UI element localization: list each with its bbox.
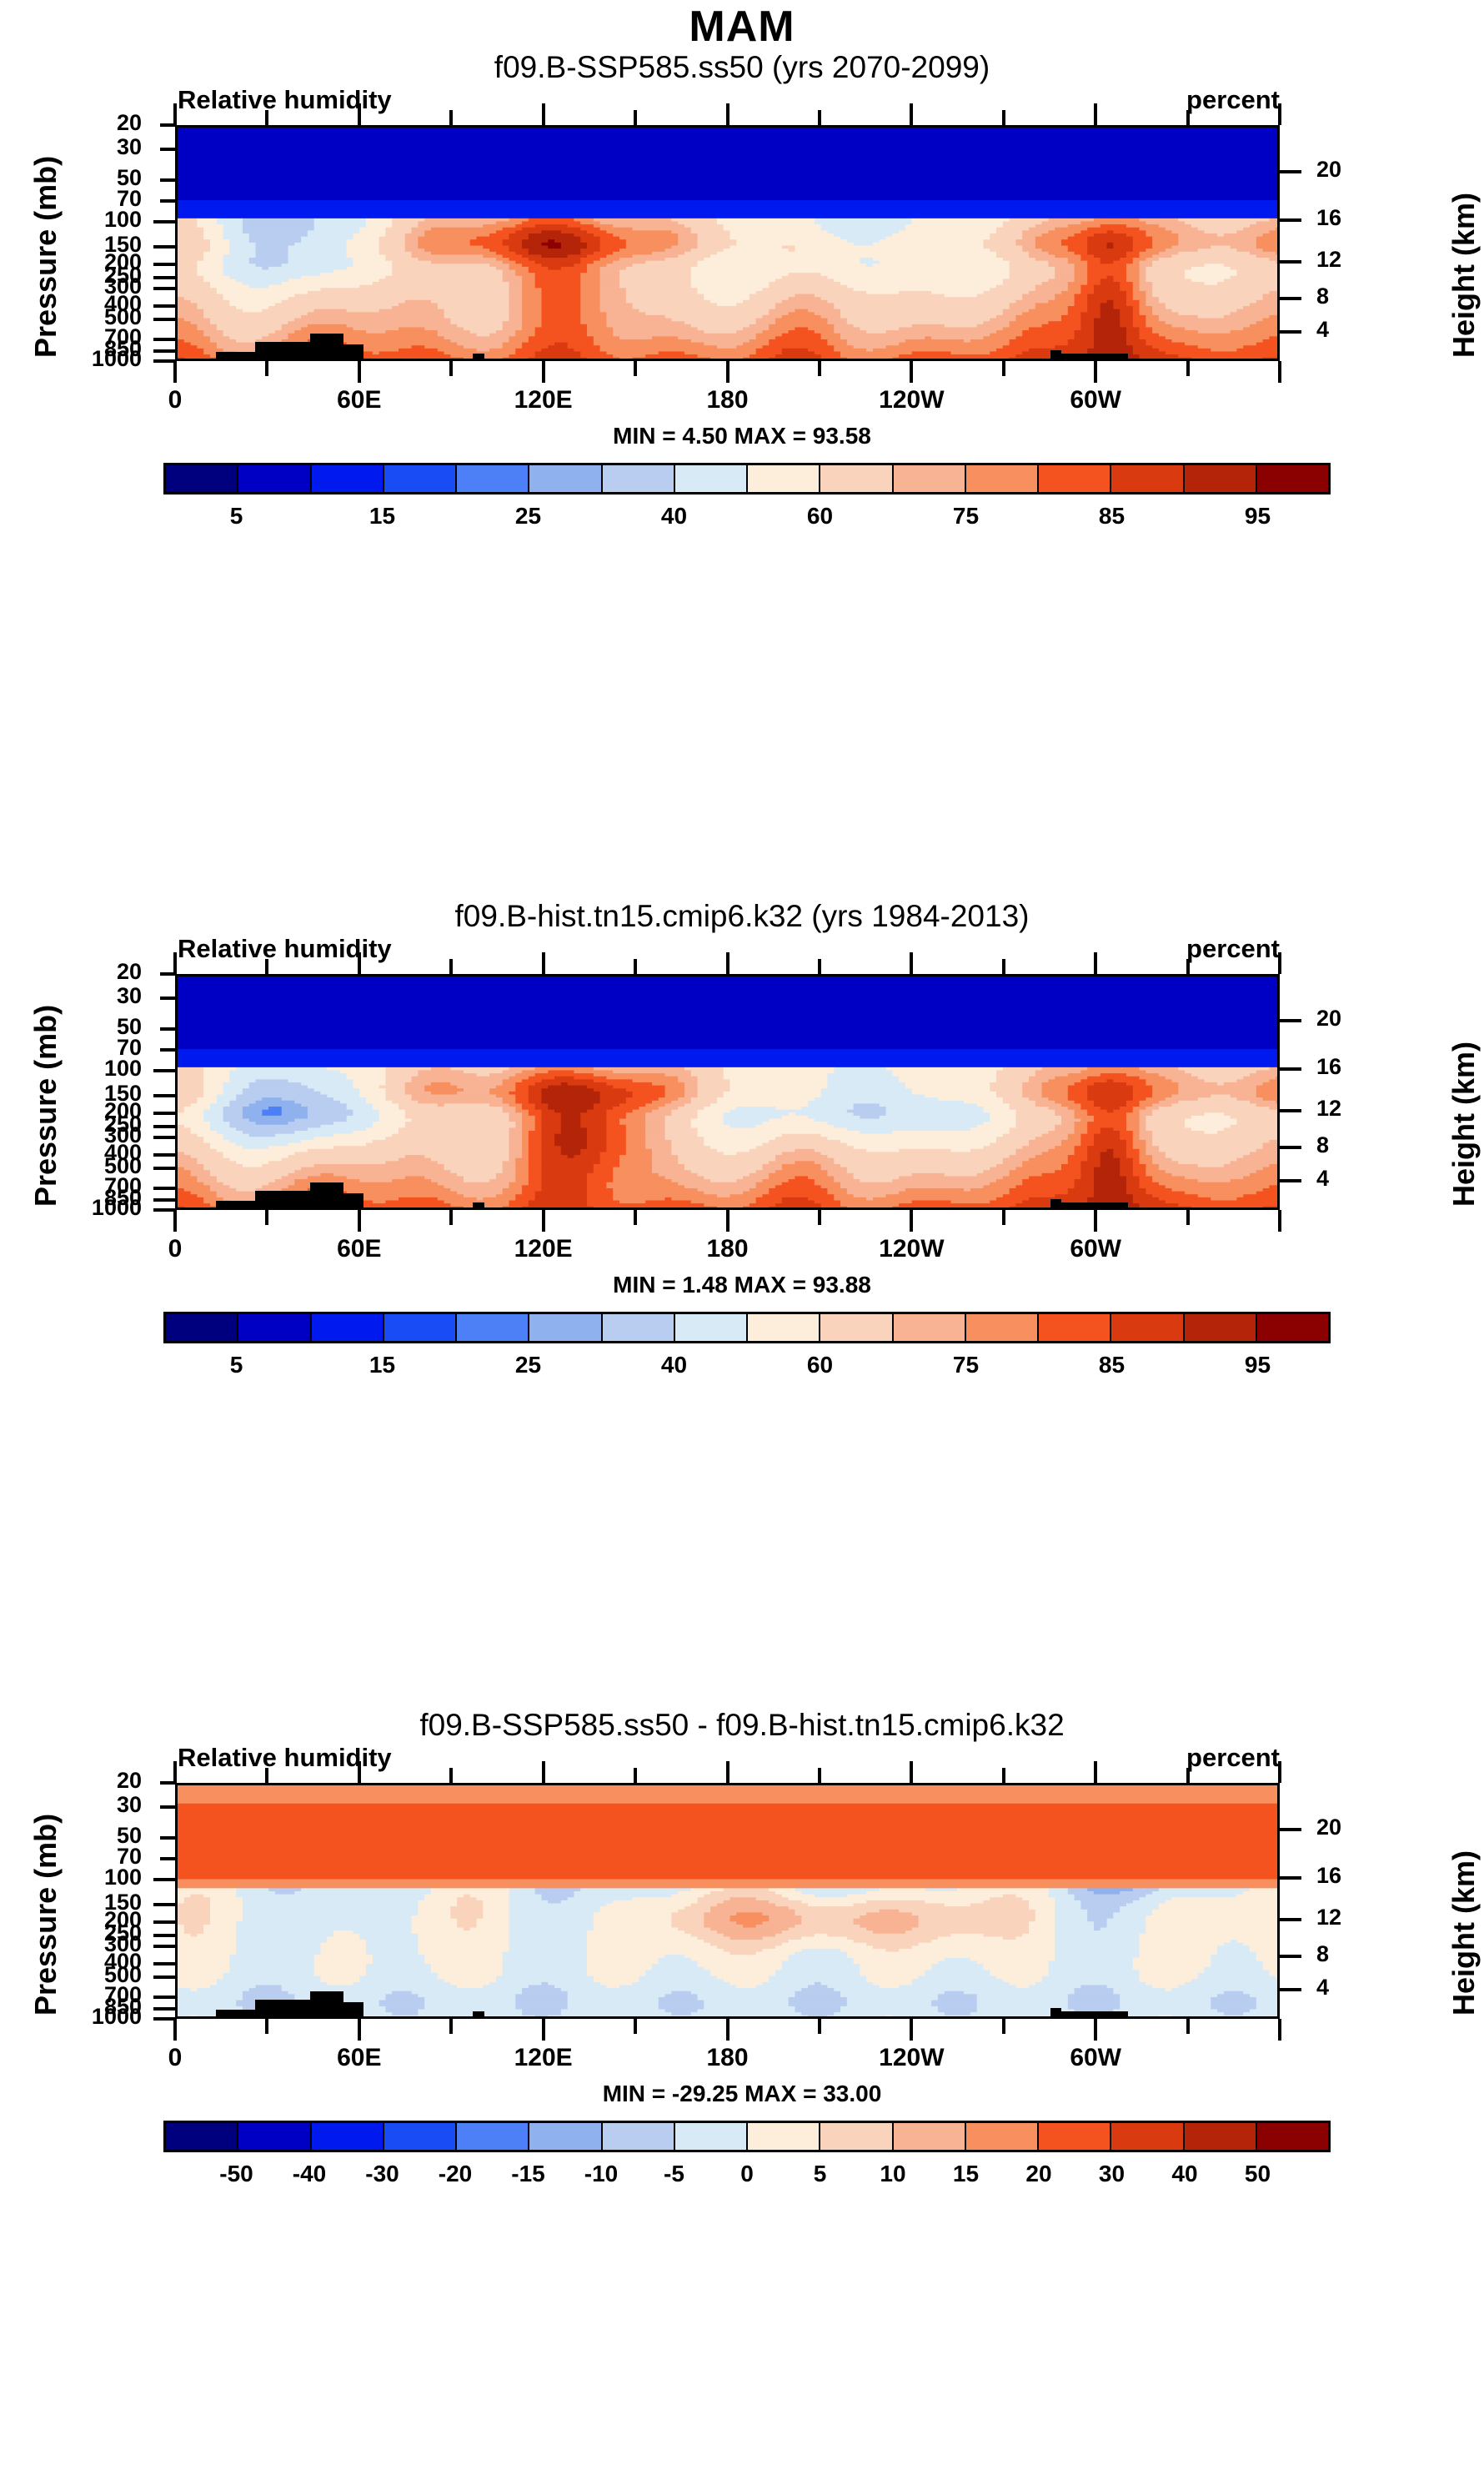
x-tick-mark	[542, 1761, 545, 1783]
colorbar-segment	[238, 2123, 311, 2150]
colorbar-tick-label: 15	[333, 503, 433, 530]
x-tick-mark	[1186, 110, 1190, 125]
colorbar-segment	[384, 465, 457, 492]
colorbar-segment	[312, 2123, 384, 2150]
x-tick-label: 60E	[301, 1235, 418, 1263]
colorbar-segment	[966, 2123, 1039, 2150]
minmax-annotation: MIN = -29.25 MAX = 33.00	[0, 2081, 1484, 2107]
x-tick-mark	[1094, 952, 1097, 974]
colorbar-segment	[312, 465, 384, 492]
x-tick-label: 180	[669, 1235, 786, 1263]
height-tick-label: 20	[1316, 157, 1341, 183]
topography-mask	[1050, 350, 1061, 359]
x-tick-mark	[818, 1768, 821, 1783]
x-tick-mark	[1278, 2019, 1281, 2041]
x-tick-mark	[358, 2019, 361, 2041]
x-tick-mark	[1002, 959, 1005, 974]
y-tick-mark-right	[1280, 1067, 1301, 1071]
topography-mask	[310, 1182, 343, 1207]
colorbar-tick-label: 40	[624, 503, 724, 530]
y-tick-mark-right	[1280, 218, 1301, 222]
y-tick-mark-right	[1280, 170, 1301, 173]
minmax-annotation: MIN = 4.50 MAX = 93.58	[0, 423, 1484, 449]
topography-mask	[283, 342, 310, 359]
x-tick-mark	[910, 952, 913, 974]
colorbar-tick-label: 75	[916, 503, 1016, 530]
y-tick-mark-right	[1280, 1019, 1301, 1022]
x-tick-mark	[265, 1768, 268, 1783]
colorbar-segment	[894, 2123, 966, 2150]
x-tick-mark	[910, 103, 913, 125]
topography-mask	[310, 1991, 343, 2016]
x-tick-mark	[1278, 1210, 1281, 1232]
height-tick-label: 8	[1316, 1941, 1329, 1967]
panel-title: f09.B-SSP585.ss50 - f09.B-hist.tn15.cmip…	[0, 1708, 1484, 1743]
y-tick-mark	[153, 1198, 175, 1202]
x-tick-mark	[634, 2019, 637, 2034]
colorbar-segment	[238, 1314, 311, 1341]
height-tick-label: 8	[1316, 1132, 1329, 1158]
x-tick-mark	[634, 1768, 637, 1783]
y-tick-label: 1000	[42, 346, 142, 372]
x-tick-mark	[726, 361, 729, 383]
x-tick-mark	[265, 361, 268, 376]
x-tick-mark	[634, 959, 637, 974]
colorbar	[163, 1312, 1331, 1343]
colorbar-segment	[820, 465, 893, 492]
colorbar-segment	[1111, 1314, 1184, 1341]
height-tick-label: 20	[1316, 1815, 1341, 1840]
y-tick-mark	[153, 263, 175, 266]
height-tick-label: 4	[1316, 1975, 1329, 2001]
height-tick-label: 8	[1316, 284, 1329, 309]
y-tick-mark	[160, 997, 175, 1000]
x-tick-mark	[1278, 952, 1281, 974]
x-tick-mark	[910, 2019, 913, 2041]
y-tick-label: 100	[42, 207, 142, 233]
x-tick-mark	[818, 2019, 821, 2034]
height-tick-label: 16	[1316, 1863, 1341, 1889]
colorbar-segment	[166, 465, 238, 492]
colorbar-tick-label: 25	[479, 503, 579, 530]
y-tick-mark	[160, 1027, 175, 1031]
x-tick-mark	[1186, 361, 1190, 376]
x-tick-mark	[910, 1761, 913, 1783]
y-tick-mark	[153, 1208, 175, 1212]
colorbar-tick-label: 5	[187, 1352, 287, 1378]
y-tick-mark	[160, 1857, 175, 1860]
colorbar-segment	[748, 2123, 820, 2150]
x-tick-mark	[818, 1210, 821, 1225]
x-tick-mark	[1186, 1210, 1190, 1225]
y-tick-mark	[153, 1962, 175, 1965]
x-tick-label: 0	[117, 2044, 233, 2072]
x-tick-label: 120W	[853, 1235, 970, 1263]
y-tick-mark-right	[1280, 1955, 1301, 1958]
colorbar-segment	[603, 465, 675, 492]
x-tick-mark	[1002, 1768, 1005, 1783]
units-label: percent	[1155, 85, 1280, 115]
topography-mask	[473, 354, 485, 359]
colorbar-segment	[603, 1314, 675, 1341]
panel-title: f09.B-hist.tn15.cmip6.k32 (yrs 1984-2013…	[0, 899, 1484, 934]
colorbar-segment	[312, 1314, 384, 1341]
colorbar-tick-label: 85	[1062, 1352, 1162, 1378]
x-tick-mark	[1186, 959, 1190, 974]
topography-mask	[1061, 2011, 1128, 2016]
y-tick-mark	[153, 1945, 175, 1948]
x-tick-mark	[358, 1761, 361, 1783]
y-tick-mark-right	[1280, 330, 1301, 334]
colorbar-segment	[1185, 465, 1257, 492]
x-tick-mark	[542, 361, 545, 383]
y-tick-mark	[160, 178, 175, 182]
y-tick-mark-right	[1280, 1146, 1301, 1149]
topography-mask	[255, 1191, 283, 1207]
x-tick-mark	[173, 103, 177, 125]
colorbar-tick-label: 50	[1208, 2161, 1308, 2187]
height-tick-label: 12	[1316, 1905, 1341, 1930]
x-tick-label: 60E	[301, 386, 418, 414]
y-tick-label: 30	[42, 1792, 142, 1818]
x-tick-mark	[910, 1210, 913, 1232]
x-tick-label: 120W	[853, 2044, 970, 2072]
height-tick-label: 4	[1316, 1166, 1329, 1192]
y-tick-mark	[153, 1187, 175, 1190]
y-tick-label: 100	[42, 1865, 142, 1890]
y-tick-label: 30	[42, 134, 142, 160]
y-tick-mark	[153, 1996, 175, 1999]
figure-main-title: MAM	[0, 2, 1484, 52]
colorbar-segment	[675, 1314, 748, 1341]
x-tick-mark	[358, 103, 361, 125]
topography-mask	[216, 352, 254, 359]
colorbar-segment	[1257, 2123, 1328, 2150]
x-tick-mark	[173, 1761, 177, 1783]
colorbar-segment	[675, 2123, 748, 2150]
x-tick-mark	[449, 110, 453, 125]
x-tick-mark	[173, 2019, 177, 2041]
x-tick-mark	[542, 2019, 545, 2041]
panel-title: f09.B-SSP585.ss50 (yrs 2070-2099)	[0, 50, 1484, 85]
y-axis-label-right: Height (km)	[1446, 1042, 1481, 1207]
colorbar	[163, 2121, 1331, 2152]
x-tick-mark	[726, 103, 729, 125]
x-tick-mark	[910, 361, 913, 383]
y-tick-mark	[153, 338, 175, 341]
topography-mask	[255, 2000, 283, 2016]
colorbar-segment	[457, 2123, 529, 2150]
colorbar-tick-label: 15	[333, 1352, 433, 1378]
y-tick-mark	[160, 148, 175, 151]
x-tick-mark	[1278, 1761, 1281, 1783]
x-tick-mark	[1002, 361, 1005, 376]
x-tick-mark	[818, 959, 821, 974]
colorbar-segment	[1111, 465, 1184, 492]
colorbar-tick-label: 95	[1208, 1352, 1308, 1378]
y-tick-mark	[153, 1136, 175, 1139]
colorbar-segment	[966, 1314, 1039, 1341]
y-tick-label: 20	[42, 1768, 142, 1794]
x-tick-mark	[449, 1768, 453, 1783]
topography-mask	[1050, 1199, 1061, 1207]
x-tick-mark	[1094, 2019, 1097, 2041]
x-tick-mark	[818, 110, 821, 125]
y-tick-mark	[153, 349, 175, 353]
units-label: percent	[1155, 1743, 1280, 1773]
y-tick-mark-right	[1280, 1109, 1301, 1112]
colorbar-segment	[820, 1314, 893, 1341]
colorbar-segment	[457, 465, 529, 492]
y-tick-mark-right	[1280, 297, 1301, 300]
x-tick-mark	[818, 361, 821, 376]
x-tick-mark	[449, 2019, 453, 2034]
x-tick-mark	[265, 110, 268, 125]
x-tick-label: 180	[669, 386, 786, 414]
y-tick-mark	[153, 220, 175, 223]
x-tick-label: 60W	[1037, 2044, 1154, 2072]
colorbar-tick-label: 85	[1062, 503, 1162, 530]
x-tick-mark	[173, 361, 177, 383]
height-tick-label: 16	[1316, 205, 1341, 231]
y-tick-mark	[153, 1167, 175, 1170]
x-tick-mark	[265, 2019, 268, 2034]
x-tick-mark	[358, 1210, 361, 1232]
plot-area	[175, 974, 1280, 1210]
x-tick-mark	[726, 2019, 729, 2041]
colorbar-segment	[238, 465, 311, 492]
y-tick-mark	[153, 276, 175, 279]
colorbar-tick-label: 40	[624, 1352, 724, 1378]
topography-mask	[343, 1193, 363, 1207]
y-tick-mark-right	[1280, 1988, 1301, 1991]
y-tick-label: 1000	[42, 2004, 142, 2030]
y-tick-mark	[153, 287, 175, 290]
y-tick-mark	[153, 318, 175, 321]
height-tick-label: 20	[1316, 1006, 1341, 1032]
colorbar-segment	[894, 465, 966, 492]
y-tick-mark-right	[1280, 1179, 1301, 1182]
y-tick-mark-right	[1280, 1828, 1301, 1831]
height-tick-label: 12	[1316, 247, 1341, 273]
colorbar-segment	[166, 1314, 238, 1341]
colorbar-segment	[675, 465, 748, 492]
y-tick-label: 20	[42, 959, 142, 985]
topography-mask	[216, 2010, 254, 2016]
height-tick-label: 4	[1316, 317, 1329, 343]
x-tick-mark	[542, 1210, 545, 1232]
topography-mask	[1061, 354, 1128, 359]
colorbar-segment	[1185, 2123, 1257, 2150]
x-tick-label: 120E	[485, 386, 602, 414]
y-tick-mark	[153, 1975, 175, 1979]
topography-mask	[343, 344, 363, 359]
y-tick-mark	[153, 1112, 175, 1115]
colorbar-segment	[529, 465, 602, 492]
x-tick-mark	[265, 1210, 268, 1225]
x-tick-label: 60E	[301, 2044, 418, 2072]
colorbar	[163, 463, 1331, 494]
topography-mask	[283, 2000, 310, 2016]
y-tick-label: 100	[42, 1056, 142, 1082]
colorbar-segment	[384, 2123, 457, 2150]
topography-mask	[283, 1191, 310, 1207]
x-tick-mark	[449, 361, 453, 376]
colorbar-segment	[384, 1314, 457, 1341]
y-tick-mark	[160, 1805, 175, 1809]
colorbar-segment	[529, 2123, 602, 2150]
x-tick-mark	[1094, 1761, 1097, 1783]
x-tick-label: 180	[669, 2044, 786, 2072]
x-tick-mark	[1002, 110, 1005, 125]
y-tick-mark	[153, 304, 175, 308]
topography-mask	[343, 2002, 363, 2016]
colorbar-tick-label: 60	[770, 503, 870, 530]
y-tick-mark	[153, 1878, 175, 1881]
y-axis-label-right: Height (km)	[1446, 193, 1481, 358]
colorbar-segment	[1257, 1314, 1328, 1341]
x-tick-label: 0	[117, 1235, 233, 1263]
x-tick-mark	[449, 1210, 453, 1225]
colorbar-segment	[1039, 465, 1111, 492]
x-tick-mark	[265, 959, 268, 974]
colorbar-tick-label: 95	[1208, 503, 1308, 530]
colorbar-tick-label: 5	[187, 503, 287, 530]
topography-mask	[1050, 2008, 1061, 2016]
colorbar-segment	[1185, 1314, 1257, 1341]
y-tick-mark	[153, 1903, 175, 1906]
colorbar-segment	[166, 2123, 238, 2150]
height-tick-label: 16	[1316, 1054, 1341, 1080]
y-tick-label: 1000	[42, 1195, 142, 1221]
x-tick-mark	[173, 1210, 177, 1232]
units-label: percent	[1155, 934, 1280, 964]
x-tick-label: 60W	[1037, 386, 1154, 414]
x-tick-mark	[1186, 2019, 1190, 2034]
colorbar-segment	[748, 465, 820, 492]
x-tick-mark	[1002, 1210, 1005, 1225]
y-tick-mark	[160, 199, 175, 203]
colorbar-segment	[966, 465, 1039, 492]
x-tick-mark	[1002, 2019, 1005, 2034]
x-tick-mark	[1278, 361, 1281, 383]
y-tick-mark	[153, 1094, 175, 1097]
y-tick-mark	[153, 245, 175, 249]
x-tick-label: 120E	[485, 1235, 602, 1263]
x-tick-mark	[726, 1761, 729, 1783]
colorbar-tick-label: 75	[916, 1352, 1016, 1378]
y-tick-mark-right	[1280, 260, 1301, 264]
topography-mask	[1061, 1202, 1128, 1207]
colorbar-segment	[1039, 1314, 1111, 1341]
colorbar-segment	[894, 1314, 966, 1341]
topography-mask	[473, 1202, 485, 1207]
y-tick-label: 30	[42, 983, 142, 1009]
y-tick-mark	[153, 1153, 175, 1157]
y-tick-label: 20	[42, 110, 142, 136]
y-tick-mark-right	[1280, 1876, 1301, 1880]
x-tick-mark	[1186, 1768, 1190, 1783]
x-tick-label: 0	[117, 386, 233, 414]
y-tick-mark	[160, 1048, 175, 1052]
colorbar-segment	[1257, 465, 1328, 492]
y-tick-mark	[160, 1836, 175, 1840]
x-tick-mark	[358, 361, 361, 383]
x-tick-mark	[726, 1210, 729, 1232]
x-tick-mark	[358, 952, 361, 974]
topography-mask	[255, 342, 283, 359]
colorbar-segment	[1039, 2123, 1111, 2150]
colorbar-segment	[603, 2123, 675, 2150]
x-tick-label: 120E	[485, 2044, 602, 2072]
x-tick-mark	[1094, 361, 1097, 383]
plot-area	[175, 1783, 1280, 2019]
y-tick-mark	[153, 359, 175, 363]
x-tick-mark	[173, 952, 177, 974]
x-tick-mark	[634, 361, 637, 376]
plot-area	[175, 125, 1280, 361]
x-tick-label: 120W	[853, 386, 970, 414]
colorbar-segment	[1111, 2123, 1184, 2150]
x-tick-mark	[1094, 103, 1097, 125]
topography-mask	[310, 334, 343, 359]
x-tick-label: 60W	[1037, 1235, 1154, 1263]
y-tick-mark	[153, 1069, 175, 1072]
x-tick-mark	[1094, 1210, 1097, 1232]
colorbar-segment	[820, 2123, 893, 2150]
y-axis-label-right: Height (km)	[1446, 1850, 1481, 2016]
colorbar-tick-label: 25	[479, 1352, 579, 1378]
colorbar-segment	[748, 1314, 820, 1341]
topography-mask	[216, 1201, 254, 1207]
colorbar-tick-label: 60	[770, 1352, 870, 1378]
y-tick-mark	[153, 2017, 175, 2021]
x-tick-mark	[542, 952, 545, 974]
colorbar-segment	[529, 1314, 602, 1341]
y-tick-mark	[153, 1934, 175, 1937]
y-tick-mark	[153, 2007, 175, 2011]
y-tick-mark-right	[1280, 1918, 1301, 1921]
x-tick-mark	[449, 959, 453, 974]
x-tick-mark	[542, 103, 545, 125]
x-tick-mark	[634, 110, 637, 125]
height-tick-label: 12	[1316, 1096, 1341, 1122]
x-tick-mark	[634, 1210, 637, 1225]
x-tick-mark	[1278, 103, 1281, 125]
x-tick-mark	[726, 952, 729, 974]
y-tick-mark	[153, 1920, 175, 1924]
y-tick-mark	[153, 1125, 175, 1128]
minmax-annotation: MIN = 1.48 MAX = 93.88	[0, 1272, 1484, 1298]
colorbar-segment	[457, 1314, 529, 1341]
topography-mask	[473, 2011, 485, 2016]
